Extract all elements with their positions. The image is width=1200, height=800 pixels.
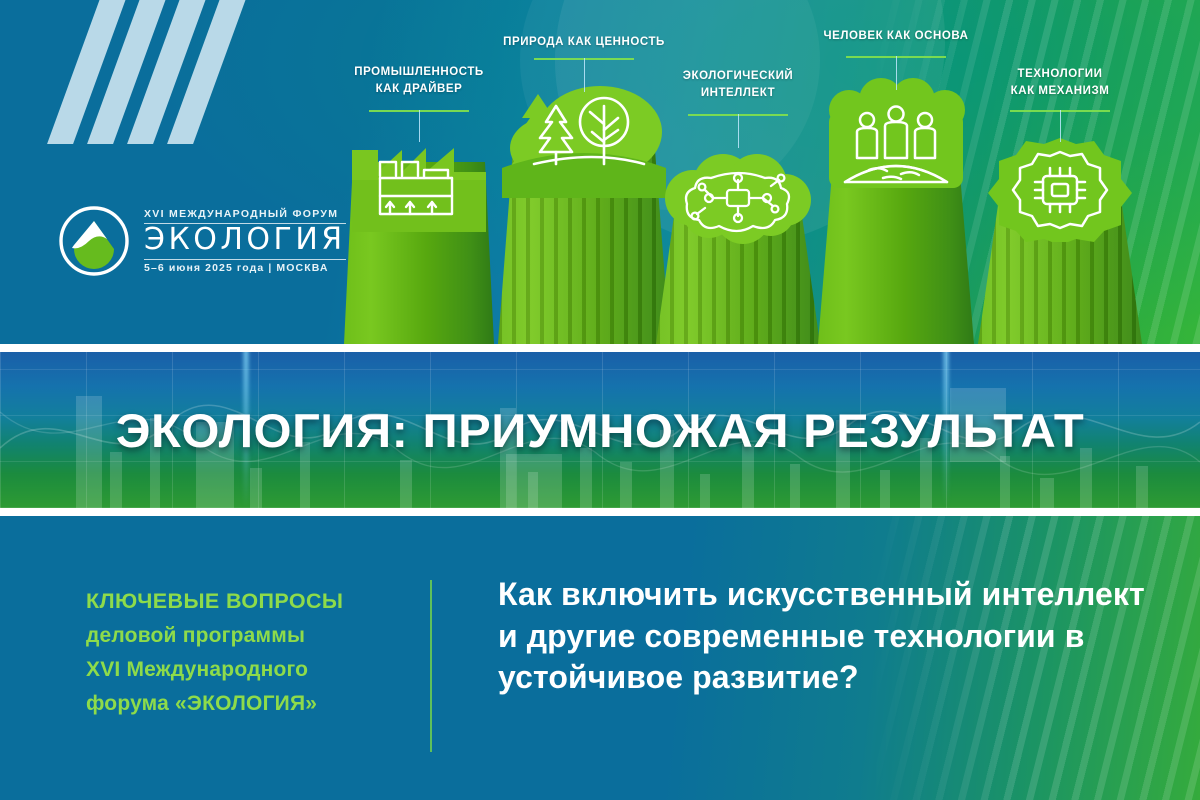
page-title: ЭКОЛОГИЯ: ПРИУМНОЖАЯ РЕЗУЛЬТАТ — [0, 352, 1200, 508]
pillar-industry-label: ПРОМЫШЛЕННОСТЬ КАК ДРАЙВЕР — [319, 64, 519, 97]
pillar-people-leader — [846, 56, 946, 90]
vertical-divider — [430, 580, 432, 752]
eco-drop-mountain-logo-icon — [58, 205, 130, 277]
title-banner: ЭКОЛОГИЯ: ПРИУМНОЖАЯ РЕЗУЛЬТАТ — [0, 352, 1200, 508]
hero-scene: ПРОМЫШЛЕННОСТЬ КАК ДРАЙВЕР — [0, 0, 1200, 344]
divider-top — [0, 344, 1200, 352]
divider-bottom — [0, 508, 1200, 516]
pillar-nature-leader — [534, 58, 634, 92]
poster-root: ПРОМЫШЛЕННОСТЬ КАК ДРАЙВЕР — [0, 0, 1200, 800]
logo-bottom-line: 5–6 июня 2025 года | МОСКВА — [144, 262, 346, 274]
pillar-nature-label: ПРИРОДА КАК ЦЕННОСТЬ — [484, 34, 684, 51]
question-text: Как включить искусственный интеллект и д… — [498, 574, 1168, 699]
pillar-technology: ТЕХНОЛОГИИ КАК МЕХАНИЗМ — [978, 132, 1142, 344]
pillar-people: ЧЕЛОВЕК КАК ОСНОВА — [818, 78, 974, 344]
pillar-nature: ПРИРОДА КАК ЦЕННОСТЬ — [498, 72, 670, 344]
key-questions-line-4: форума «ЭКОЛОГИЯ» — [86, 687, 396, 721]
people-group-icon — [813, 78, 979, 203]
key-questions-line-3: XVI Международного — [86, 653, 396, 687]
factory-icon — [344, 132, 494, 257]
pillar-industry: ПРОМЫШЛЕННОСТЬ КАК ДРАЙВЕР — [344, 132, 494, 344]
pillar-eco-intelligence-leader — [688, 114, 788, 148]
logo-rule-bottom — [144, 259, 346, 260]
slashes-logo-mark — [66, 0, 246, 145]
pillar-industry-leader — [369, 110, 469, 142]
logo-top-line: XVI МЕЖДУНАРОДНЫЙ ФОРУМ — [144, 208, 346, 220]
logo-name: ЭКОЛОГИЯ — [144, 225, 346, 256]
pillar-people-label: ЧЕЛОВЕК КАК ОСНОВА — [796, 28, 996, 45]
pillar-eco-intelligence: ЭКОЛОГИЧЕСКИЙ ИНТЕЛЛЕКТ — [656, 146, 820, 344]
pillar-technology-leader — [1010, 110, 1110, 142]
key-questions-line-1: КЛЮЧЕВЫЕ ВОПРОСЫ — [86, 584, 396, 619]
forum-logo: XVI МЕЖДУНАРОДНЫЙ ФОРУМ ЭКОЛОГИЯ 5–6 июн… — [58, 205, 346, 277]
key-questions-line-2: деловой программы — [86, 619, 396, 653]
gear-chip-icon — [975, 132, 1145, 247]
key-questions-block: КЛЮЧЕВЫЕ ВОПРОСЫ деловой программы XVI М… — [86, 584, 396, 721]
pillar-eco-intelligence-label: ЭКОЛОГИЧЕСКИЙ ИНТЕЛЛЕКТ — [638, 68, 838, 101]
pillar-technology-label: ТЕХНОЛОГИИ КАК МЕХАНИЗМ — [960, 66, 1160, 99]
brain-circuit-icon — [653, 146, 823, 255]
bottom-section: КЛЮЧЕВЫЕ ВОПРОСЫ деловой программы XVI М… — [0, 516, 1200, 800]
